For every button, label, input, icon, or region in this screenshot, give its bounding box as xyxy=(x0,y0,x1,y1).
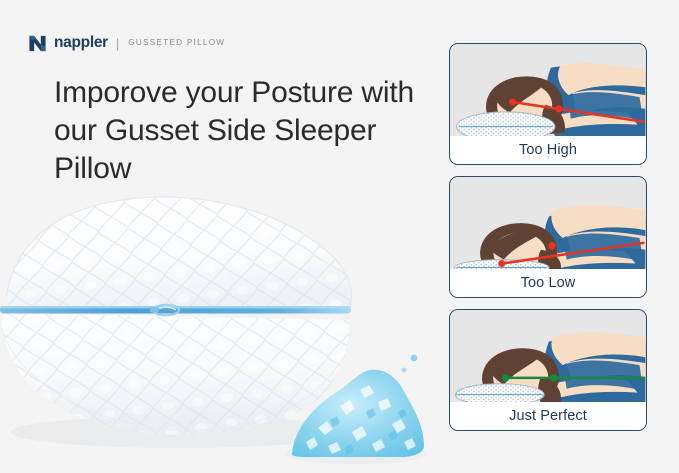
brand-header: nappler | GUSSETED PILLOW xyxy=(28,33,225,53)
brand-divider: | xyxy=(116,37,119,50)
brand-wordmark: nappler xyxy=(54,35,108,51)
promotional-banner: nappler | GUSSETED PILLOW Imporove your … xyxy=(0,0,679,473)
panel-too-low[interactable]: Too Low xyxy=(449,176,647,298)
panel-too-high[interactable]: Too High xyxy=(449,43,647,165)
brand-subtitle: GUSSETED PILLOW xyxy=(128,38,225,47)
panel-label-just-perfect: Just Perfect xyxy=(450,402,646,430)
panel-label-too-high: Too High xyxy=(450,136,646,164)
posture-comparison-panels: Too High xyxy=(449,43,647,431)
pillow-top-lobe xyxy=(0,180,360,315)
nappler-n-logo-icon xyxy=(28,34,47,53)
panel-just-perfect[interactable]: Just Perfect xyxy=(449,309,647,431)
page-headline: Imporove your Posture with our Gusset Si… xyxy=(54,74,454,188)
pillow-zipper xyxy=(0,305,351,315)
panel-label-too-low: Too Low xyxy=(450,269,646,297)
product-image xyxy=(0,180,430,473)
